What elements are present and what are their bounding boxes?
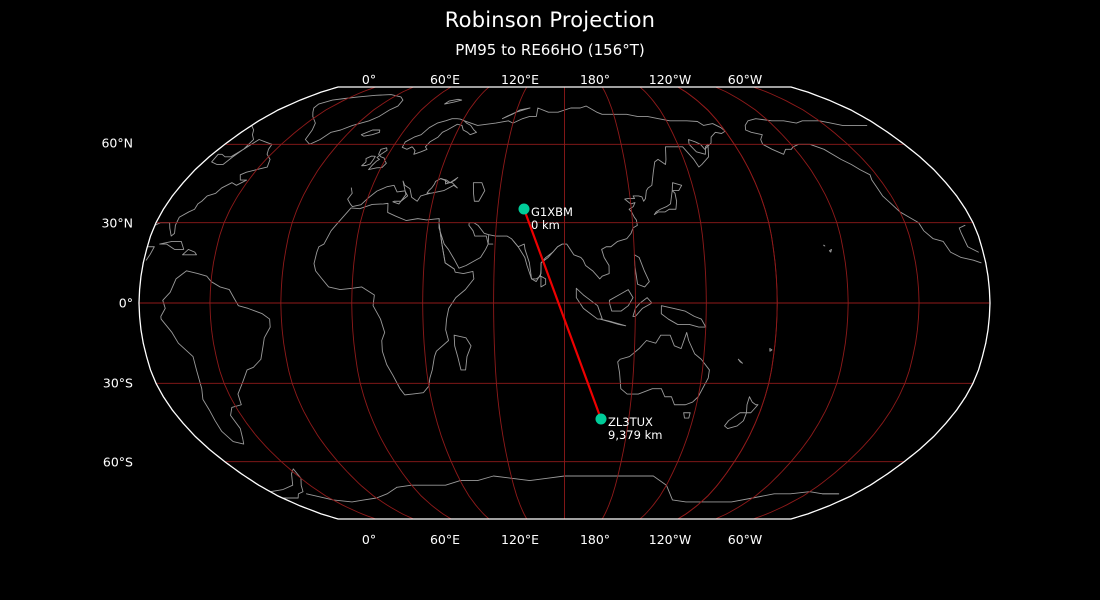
coastline-segment [770,349,772,352]
coastline-segment [270,469,303,498]
coastline-segment [576,288,602,319]
lat-tick-2: 0° [60,296,133,311]
coastline-segment [600,319,626,326]
coastline-segment [454,335,471,370]
coastline-segment [724,413,746,429]
coastline-segment [161,271,270,444]
lat-tick-3: 30°S [60,376,133,391]
lon-tick-top-2: 120°E [501,72,539,87]
coastline-segment [305,95,403,145]
coastline-segment [402,119,476,155]
lat-tick-1: 30°N [60,216,133,231]
coastline-segment [701,492,839,502]
lat-tick-4: 60°S [60,455,133,470]
coastline-segment [609,290,633,311]
coastline-segment [684,413,691,418]
lon-tick-top-3: 180° [580,72,610,87]
lon-tick-top-0: 0° [362,72,376,87]
route-marker-ZL3TUX[interactable] [596,414,607,425]
coastline-segment [829,249,831,252]
coastline-segment [541,276,546,287]
coastline-segment [654,183,681,215]
coastline-segment [183,249,197,254]
great-circle-route [524,209,601,419]
lon-tick-bottom-1: 60°E [430,532,460,547]
coastline-segment [661,306,705,327]
lon-tick-bottom-5: 60°W [728,532,763,547]
coastline-segment [746,130,981,263]
lon-tick-bottom-4: 120°W [649,532,691,547]
coastline-segment [306,487,396,502]
coastline-segment [634,255,649,287]
robinson-map-canvas [0,0,1100,600]
coastline-segment [738,359,742,363]
coastline-segment [473,183,484,202]
lon-tick-top-1: 60°E [430,72,460,87]
coastline-segment [155,125,272,236]
route-label-G1XBM: G1XBM [531,205,573,219]
coastline-segment [348,177,458,206]
route-distance-ZL3TUX: 9,379 km [608,428,662,442]
map-figure: Robinson Projection PM95 to RE66HO (156°… [0,0,1100,600]
lon-tick-top-5: 60°W [728,72,763,87]
coastline-segment [160,241,184,249]
coastline-segment [502,108,530,119]
route-marker-G1XBM[interactable] [519,204,530,215]
lat-tick-0: 60°N [60,136,133,151]
coastline-segment [369,148,387,170]
graticule-layer [139,87,990,519]
coastline-segment [445,99,462,104]
coastline-layer [146,95,981,502]
coastline-segment [361,130,379,136]
lon-tick-bottom-3: 180° [580,532,610,547]
route-label-ZL3TUX: ZL3TUX [608,415,653,429]
route-distance-G1XBM: 0 km [531,218,560,232]
coastline-segment [745,119,867,130]
lon-tick-bottom-2: 120°E [501,532,539,547]
coastline-segment [439,224,493,269]
route-line [524,209,601,419]
coastline-segment [464,106,725,279]
lon-tick-bottom-0: 0° [362,532,376,547]
coastline-segment [824,245,825,246]
coastline-segment [314,203,474,394]
coastline-segment [397,476,701,502]
lon-tick-top-4: 120°W [649,72,691,87]
coastline-segment [746,397,757,413]
coastline-segment [146,247,154,260]
